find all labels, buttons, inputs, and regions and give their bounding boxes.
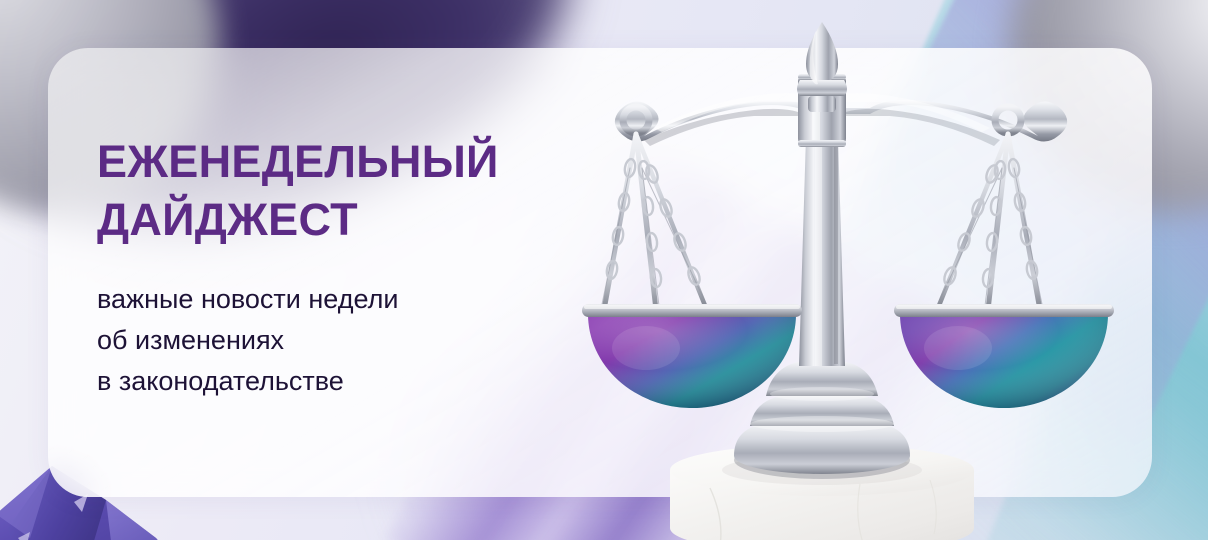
justice-scales-illustration [560,18,1120,540]
right-pan [894,304,1114,408]
page-subtitle: важные новости недели об изменениях в за… [97,279,597,402]
scales-column [799,136,845,366]
weekly-digest-banner: ЕЖЕНЕДЕЛЬНЫЙ ДАЙДЖЕСТ важные новости нед… [0,0,1208,540]
copy-block: ЕЖЕНЕДЕЛЬНЫЙ ДАЙДЖЕСТ важные новости нед… [97,133,597,402]
page-title: ЕЖЕНЕДЕЛЬНЫЙ ДАЙДЖЕСТ [97,133,597,249]
